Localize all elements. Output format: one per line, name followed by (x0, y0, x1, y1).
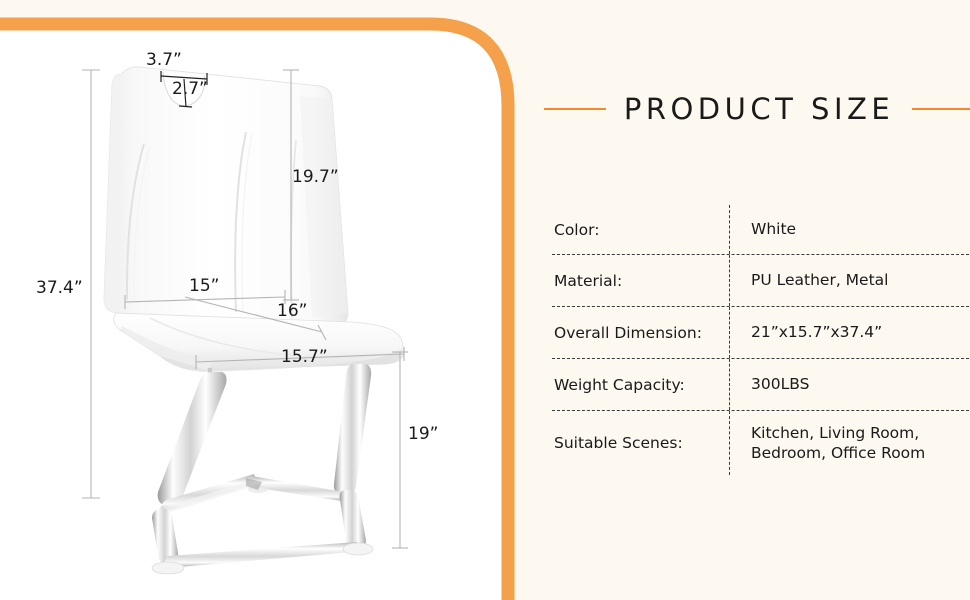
column-divider (729, 307, 730, 358)
dimension-label-seat-diagonal: 16” (277, 301, 307, 321)
dimension-label-overall-height: 37.4” (36, 278, 83, 298)
dimension-label-seat-height: 19” (408, 424, 438, 444)
spec-key: Material: (552, 272, 729, 290)
table-row: Weight Capacity: 300LBS (552, 359, 970, 411)
chair-backrest (104, 67, 348, 325)
chair-chrome-base (152, 364, 373, 574)
column-divider (729, 411, 730, 475)
page-title: PRODUCT SIZE (552, 85, 962, 133)
chair-seat (114, 313, 404, 372)
dimension-label-seat-width: 15” (189, 276, 219, 296)
dimension-label-handle-height: 2.7” (172, 79, 208, 99)
column-divider (729, 255, 730, 306)
chair-illustration (0, 0, 520, 600)
spec-key: Weight Capacity: (552, 376, 729, 394)
spec-table: Color: White Material: PU Leather, Metal… (552, 205, 970, 475)
title-rule-left-icon (544, 108, 606, 110)
table-row: Overall Dimension: 21”x15.7”x37.4” (552, 307, 970, 359)
title-rule-right-icon (912, 108, 970, 110)
dimension-label-back-height: 19.7” (292, 167, 339, 187)
table-row: Material: PU Leather, Metal (552, 255, 970, 307)
spec-key: Overall Dimension: (552, 324, 729, 342)
table-row: Color: White (552, 205, 970, 255)
spec-value: White (729, 219, 970, 239)
product-size-infographic: 37.4” 3.7” 2.7” 19.7” 15” 16” 15.7” 19” … (0, 0, 970, 600)
spec-value: PU Leather, Metal (729, 270, 970, 290)
spec-panel: PRODUCT SIZE Color: White Material: PU L… (530, 0, 970, 600)
table-row: Suitable Scenes: Kitchen, Living Room,Be… (552, 411, 970, 475)
dimension-label-handle-width: 3.7” (146, 50, 182, 70)
spec-key: Suitable Scenes: (552, 434, 729, 452)
dimension-label-seat-depth: 15.7” (281, 347, 328, 367)
spec-value: Kitchen, Living Room,Bedroom, Office Roo… (729, 423, 970, 464)
column-divider (729, 205, 730, 254)
column-divider (729, 359, 730, 410)
spec-key: Color: (552, 221, 729, 239)
page-title-text: PRODUCT SIZE (624, 92, 894, 126)
spec-value: 21”x15.7”x37.4” (729, 322, 970, 342)
spec-value: 300LBS (729, 374, 970, 394)
